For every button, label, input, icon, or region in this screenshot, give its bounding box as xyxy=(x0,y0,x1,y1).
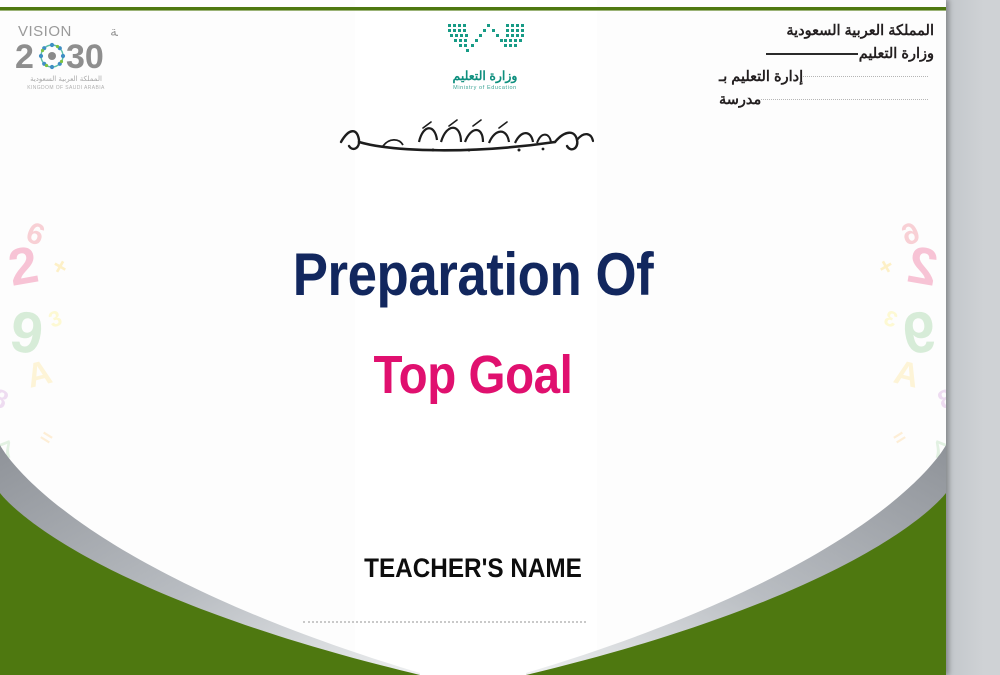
header-ministry-label: وزارة التعليم xyxy=(859,46,934,62)
header-line-education-dept: إدارة التعليم بـ xyxy=(719,66,934,89)
header-line-ministry: وزارة التعليم xyxy=(719,43,934,66)
kashida-stroke xyxy=(766,53,858,55)
top-green-hairline xyxy=(0,10,946,11)
school-dotted-blank[interactable] xyxy=(761,99,928,100)
svg-text:30: 30 xyxy=(66,38,104,76)
education-dept-dotted-blank[interactable] xyxy=(803,76,928,77)
moe-dots-mark xyxy=(430,20,540,62)
svg-text:المملكة العربية السعودية: المملكة العربية السعودية xyxy=(30,75,102,83)
basmala-calligraphy xyxy=(0,112,946,169)
teacher-name-label: TEACHER'S NAME xyxy=(47,553,898,584)
svg-text:2: 2 xyxy=(15,38,34,76)
vision-2030-logo: VISION رؤية 2 30 xyxy=(14,18,118,94)
teacher-name-dotted-blank[interactable] xyxy=(303,621,586,623)
svg-text:KINGDOM OF SAUDI ARABIA: KINGDOM OF SAUDI ARABIA xyxy=(27,85,105,91)
header-school-label: مدرسة xyxy=(719,89,761,112)
ministry-of-education-logo: وزارة التعليم Ministry of Education xyxy=(430,20,540,92)
kingdom-header-block: المملكة العربية السعودية وزارة التعليم إ… xyxy=(719,20,934,112)
header-line-school: مدرسة xyxy=(719,89,934,112)
moe-name-english: Ministry of Education xyxy=(430,85,540,91)
document-page: 7 6 1 2 + 4 9 5 3 0 8 A 6 7 2 = xyxy=(0,0,946,675)
page-title-line-1: Preparation Of xyxy=(57,240,889,309)
moe-name-arabic: وزارة التعليم xyxy=(430,68,540,83)
svg-text:رؤية: رؤية xyxy=(110,24,118,40)
page-backdrop-shade xyxy=(944,0,1000,675)
header-education-dept-label: إدارة التعليم بـ xyxy=(719,66,803,89)
screenshot-viewport: 7 6 1 2 + 4 9 5 3 0 8 A 6 7 2 = xyxy=(0,0,1000,675)
header-line-kingdom: المملكة العربية السعودية xyxy=(719,20,934,43)
page-title-line-2: Top Goal xyxy=(57,344,889,406)
